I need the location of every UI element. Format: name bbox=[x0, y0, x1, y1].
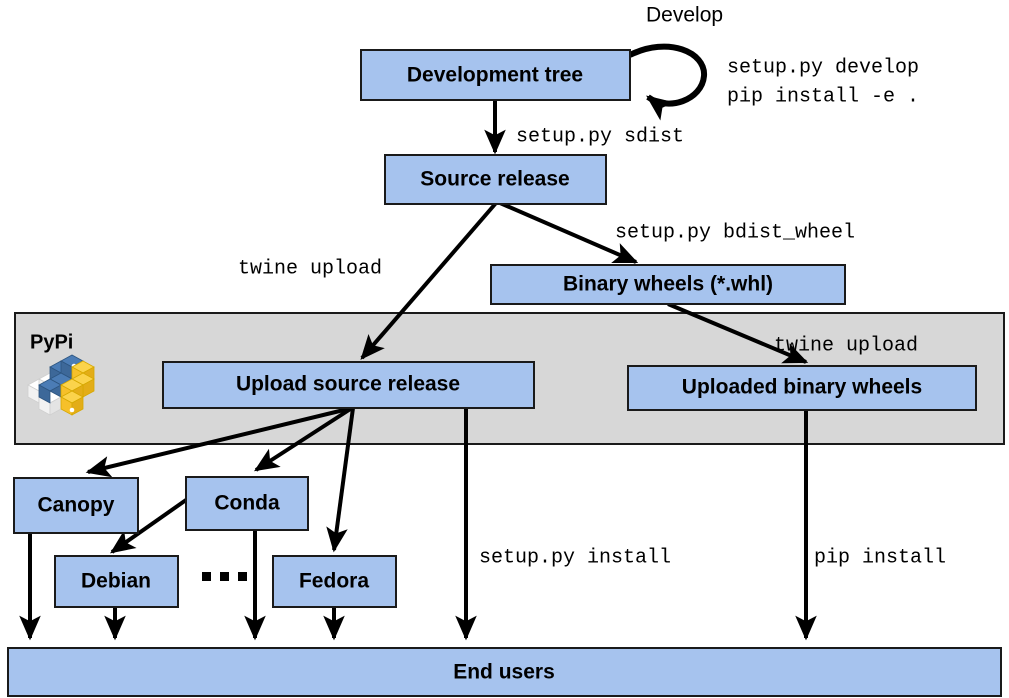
packaging-flow-diagram: PyPi bbox=[0, 0, 1009, 698]
end-users-label: End users bbox=[453, 661, 555, 684]
ellipsis-dot-1 bbox=[202, 572, 211, 581]
uploaded-binary-wheels-label: Uploaded binary wheels bbox=[682, 376, 922, 399]
edge-develop-self-loop bbox=[630, 47, 704, 104]
node-development-tree[interactable]: Development tree bbox=[361, 50, 630, 100]
node-upload-source-release[interactable]: Upload source release bbox=[163, 362, 534, 408]
source-release-label: Source release bbox=[420, 168, 569, 191]
node-debian[interactable]: Debian bbox=[55, 556, 178, 607]
canopy-label: Canopy bbox=[37, 494, 114, 517]
label-setup-py-install: setup.py install bbox=[479, 546, 671, 569]
binary-wheels-label: Binary wheels (*.whl) bbox=[563, 273, 773, 296]
node-binary-wheels[interactable]: Binary wheels (*.whl) bbox=[491, 265, 845, 304]
development-tree-label: Development tree bbox=[407, 64, 583, 87]
label-twine-upload-wheels: twine upload bbox=[774, 334, 918, 357]
node-uploaded-binary-wheels[interactable]: Uploaded binary wheels bbox=[628, 366, 976, 410]
ellipsis-dot-2 bbox=[220, 572, 229, 581]
ellipsis-dots bbox=[202, 572, 247, 581]
fedora-label: Fedora bbox=[299, 570, 369, 593]
label-pip-install: pip install bbox=[814, 546, 946, 569]
node-source-release[interactable]: Source release bbox=[385, 155, 606, 204]
pypi-group-label: PyPi bbox=[30, 331, 73, 353]
diagram-root: PyPi bbox=[0, 0, 1009, 698]
label-develop: Develop bbox=[646, 4, 723, 27]
upload-source-release-label: Upload source release bbox=[236, 373, 460, 396]
label-setup-py-bdist-wheel: setup.py bdist_wheel bbox=[615, 221, 855, 244]
label-setup-py-develop: setup.py develop bbox=[727, 56, 919, 79]
ellipsis-dot-3 bbox=[238, 572, 247, 581]
label-twine-upload-source: twine upload bbox=[238, 257, 382, 280]
conda-label: Conda bbox=[214, 492, 280, 515]
node-end-users[interactable]: End users bbox=[8, 648, 1001, 696]
node-canopy[interactable]: Canopy bbox=[14, 478, 138, 533]
node-fedora[interactable]: Fedora bbox=[273, 556, 396, 607]
label-setup-py-sdist: setup.py sdist bbox=[516, 125, 684, 148]
debian-label: Debian bbox=[81, 570, 151, 593]
node-conda[interactable]: Conda bbox=[186, 477, 308, 530]
label-pip-install-editable: pip install -e . bbox=[727, 85, 919, 108]
